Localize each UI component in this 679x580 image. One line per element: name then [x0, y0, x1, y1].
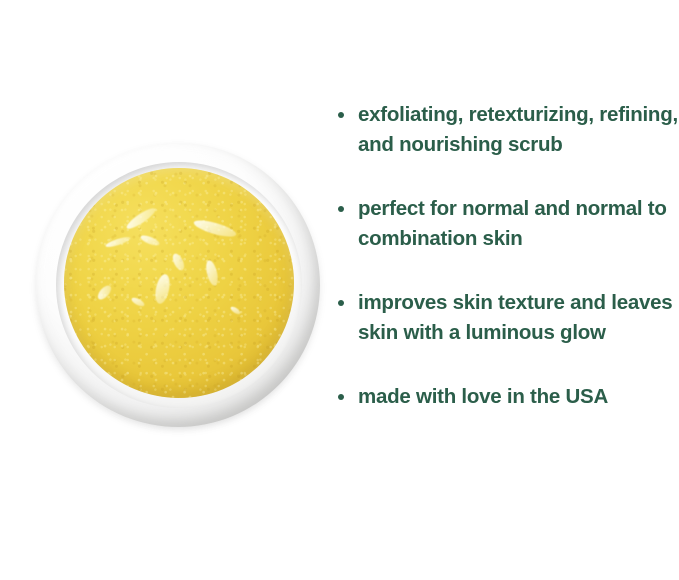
dot-bullet-icon [338, 112, 344, 118]
list-item: exfoliating, retexturizing, refining, an… [336, 100, 679, 160]
feature-text: made with love in the USA [358, 382, 679, 412]
dot-bullet-icon [338, 300, 344, 306]
list-item: made with love in the USA [336, 382, 679, 412]
product-feature-page: exfoliating, retexturizing, refining, an… [0, 0, 679, 580]
list-item: improves skin texture and leaves skin wi… [336, 288, 679, 348]
scrub-texture-grain [64, 168, 294, 398]
list-item: perfect for normal and normal to combina… [336, 194, 679, 254]
scrub-product-surface [64, 168, 294, 398]
feature-list: exfoliating, retexturizing, refining, an… [336, 100, 679, 412]
dot-bullet-icon [338, 206, 344, 212]
feature-text: improves skin texture and leaves skin wi… [358, 288, 679, 348]
dot-bullet-icon [338, 394, 344, 400]
product-image [36, 143, 322, 429]
feature-text: perfect for normal and normal to combina… [358, 194, 679, 254]
feature-text: exfoliating, retexturizing, refining, an… [358, 100, 679, 160]
